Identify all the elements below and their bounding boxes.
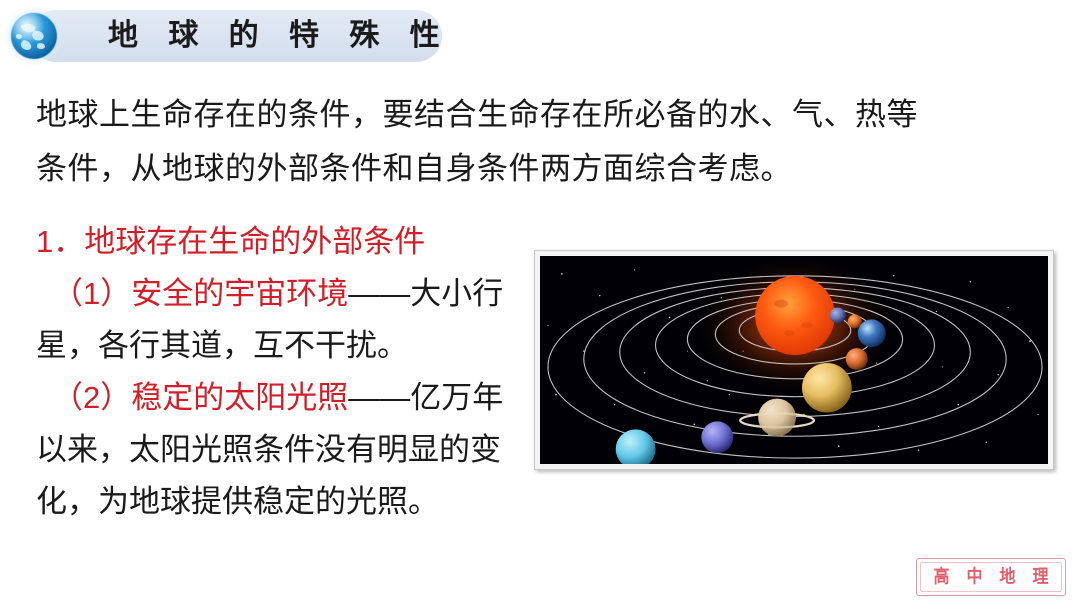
point-segment: （2）稳定的太阳光照 — [52, 380, 348, 415]
watermark-char: 地 — [999, 568, 1015, 586]
solar-system-diagram — [540, 256, 1048, 464]
point-line-item-2-line-3: 化，为地球提供稳定的光照。 — [36, 476, 536, 528]
earth-globe-icon — [0, 2, 68, 70]
watermark-char: 理 — [1032, 568, 1048, 586]
slide-title-bar: 地 球 的 特 殊 性 — [30, 10, 442, 62]
point-line-item-2-line-1: （2）稳定的太阳光照——亿万年 — [36, 372, 536, 424]
point-segment: ——大小行 — [348, 276, 503, 311]
point-line-item-2-line-2: 以来，太阳光照条件没有明显的变 — [36, 424, 536, 476]
point-segment: ——亿万年 — [348, 380, 503, 415]
point-line-item-1-line-2: 星，各行其道，互不干扰。 — [36, 320, 536, 372]
point-segment: （1）安全的宇宙环境 — [52, 276, 348, 311]
watermark-char: 高 — [933, 568, 949, 586]
point-segment: 1．地球存在生命的外部条件 — [36, 224, 425, 259]
intro-line-2: 条件，从地球的外部条件和自身条件两方面综合考虑。 — [36, 142, 1046, 196]
watermark-char: 中 — [966, 568, 982, 586]
point-segment: 星，各行其道，互不干扰。 — [36, 328, 408, 363]
page-title: 地 球 的 特 殊 性 — [108, 21, 451, 51]
publisher-watermark: 高中地理 — [916, 558, 1066, 596]
point-line-heading-1: 1．地球存在生命的外部条件 — [36, 216, 536, 268]
solar-system-figure — [534, 250, 1054, 470]
points-list: 1．地球存在生命的外部条件（1）安全的宇宙环境——大小行星，各行其道，互不干扰。… — [36, 216, 536, 528]
watermark-frame: 高中地理 — [920, 562, 1062, 592]
slide-canvas: 地 球 的 特 殊 性 — [0, 0, 1080, 608]
point-segment: 以来，太阳光照条件没有明显的变 — [36, 432, 501, 467]
point-line-item-1-line-1: （1）安全的宇宙环境——大小行 — [36, 268, 536, 320]
intro-paragraph: 地球上生命存在的条件，要结合生命存在所必备的水、气、热等 条件，从地球的外部条件… — [36, 88, 1046, 196]
point-segment: 化，为地球提供稳定的光照。 — [36, 484, 439, 519]
intro-line-1: 地球上生命存在的条件，要结合生命存在所必备的水、气、热等 — [36, 88, 1046, 142]
